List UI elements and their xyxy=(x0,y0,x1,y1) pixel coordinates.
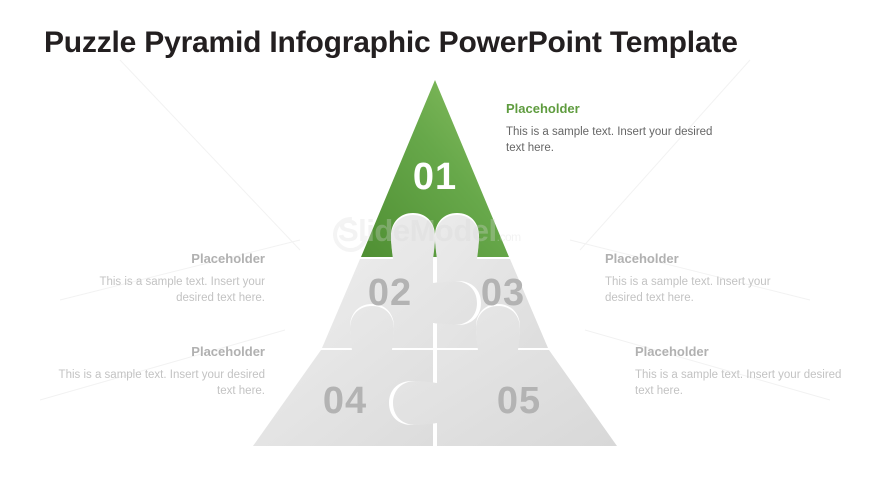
callout-04[interactable]: Placeholder This is a sample text. Inser… xyxy=(58,344,265,399)
callout-03[interactable]: Placeholder This is a sample text. Inser… xyxy=(605,251,810,306)
callout-04-title: Placeholder xyxy=(58,344,265,360)
callout-02-title: Placeholder xyxy=(60,251,265,267)
callout-05[interactable]: Placeholder This is a sample text. Inser… xyxy=(635,344,842,399)
callout-05-title: Placeholder xyxy=(635,344,842,360)
callout-02[interactable]: Placeholder This is a sample text. Inser… xyxy=(60,251,265,306)
callout-04-body: This is a sample text. Insert your desir… xyxy=(58,367,265,400)
callout-01[interactable]: Placeholder This is a sample text. Inser… xyxy=(506,101,721,156)
callout-01-title: Placeholder xyxy=(506,101,721,117)
callout-02-body: This is a sample text. Insert your desir… xyxy=(60,274,265,307)
puzzle-pyramid-diagram: 01 02 03 04 05 SlideModel.com xyxy=(0,0,870,489)
pyramid-svg xyxy=(0,0,870,489)
pyramid-piece-01[interactable] xyxy=(361,80,509,257)
callout-03-title: Placeholder xyxy=(605,251,810,267)
callout-03-body: This is a sample text. Insert your desir… xyxy=(605,274,810,307)
callout-05-body: This is a sample text. Insert your desir… xyxy=(635,367,842,400)
callout-01-body: This is a sample text. Insert your desir… xyxy=(506,124,721,157)
